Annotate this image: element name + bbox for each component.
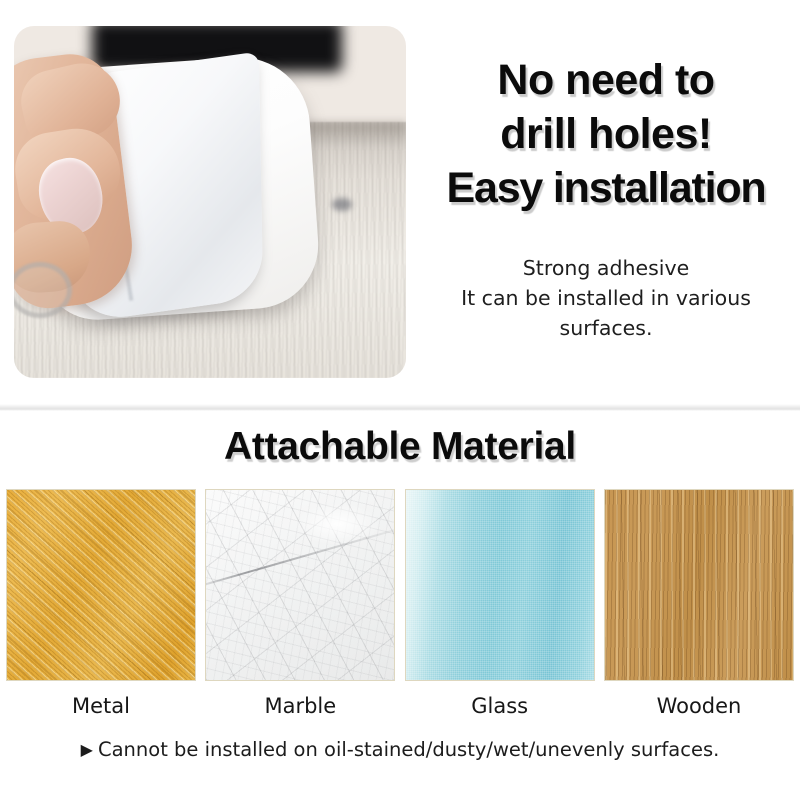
top-text-column: No need to drill holes! Easy installatio… [412,0,800,406]
swatch-image-marble [205,489,395,681]
bottom-section: Attachable Material Metal Marble Glass W… [0,411,800,800]
swatch-image-glass [405,489,595,681]
swatch-label-wooden: Wooden [604,694,794,718]
section-divider [0,404,800,411]
headline-line-2: drill holes! [412,110,800,159]
subtext-line-3: surfaces. [412,316,800,340]
subtext-line-1: Strong adhesive [412,256,800,280]
swatch-label-metal: Metal [6,694,196,718]
section-title: Attachable Material [0,425,800,469]
triangle-right-icon: ▶ [81,740,93,759]
material-swatch-glass: Glass [405,489,595,681]
photo-table-speck [332,198,352,211]
swatch-label-marble: Marble [205,694,395,718]
product-photo [14,26,406,378]
restriction-note-text: Cannot be installed on oil-stained/dusty… [98,738,719,761]
material-swatch-wooden: Wooden [604,489,794,681]
headline-line-3: Easy installation [412,164,800,213]
headline-line-1: No need to [412,56,800,105]
swatch-label-glass: Glass [405,694,595,718]
material-swatch-metal: Metal [6,489,196,681]
swatch-image-metal [6,489,196,681]
material-swatch-row: Metal Marble Glass Wooden [6,489,794,681]
restriction-note: ▶Cannot be installed on oil-stained/dust… [0,738,800,761]
material-swatch-marble: Marble [205,489,395,681]
swatch-image-wooden [604,489,794,681]
top-section: No need to drill holes! Easy installatio… [0,0,800,406]
subtext-line-2: It can be installed in various [412,286,800,310]
